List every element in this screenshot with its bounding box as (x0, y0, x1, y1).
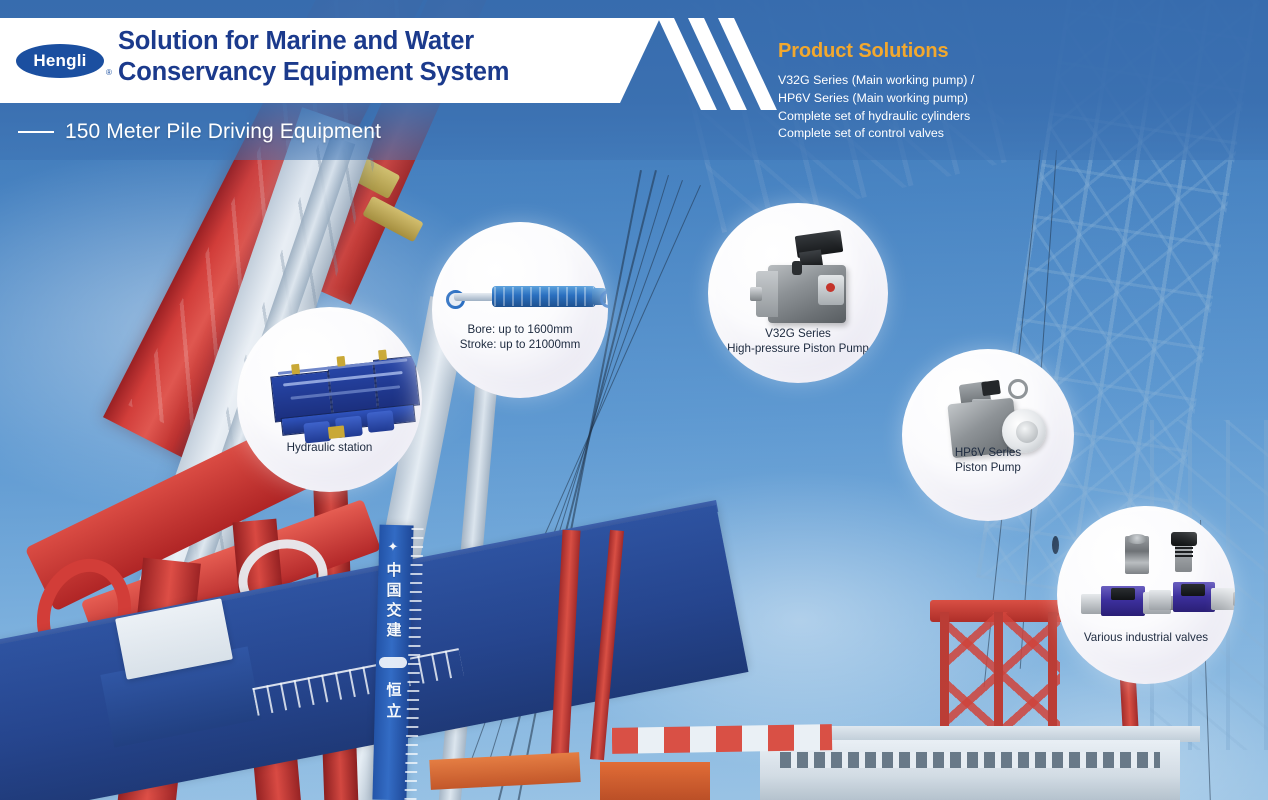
product-solutions-heading: Product Solutions (778, 40, 1118, 63)
caption-line-1: Hydraulic station (237, 440, 422, 455)
v32g-pump-image (756, 231, 860, 341)
cylinder-base-eye (600, 290, 608, 308)
product-solutions-item-2: Complete set of hydraulic cylinders (778, 108, 1118, 126)
caption-line-2: Piston Pump (902, 460, 1074, 475)
pile-column-badge (379, 657, 407, 668)
valve-connector-right (1233, 592, 1235, 606)
hydraulic-station-image (266, 343, 422, 454)
caption-line-1: V32G Series (708, 326, 888, 341)
callout-caption-hp6v-pump: HP6V Series Piston Pump (902, 445, 1074, 475)
valve-cartridge-1-top (1127, 534, 1147, 544)
callout-hydraulic-station[interactable]: Hydraulic station (237, 307, 422, 492)
caption-line-1: HP6V Series (902, 445, 1074, 460)
hs-fitting-3 (378, 350, 387, 361)
callout-caption-industrial-valves: Various industrial valves (1057, 630, 1235, 645)
pile-column-text-top: 中国交建 (381, 560, 407, 640)
v32g-adjuster-knob (792, 261, 802, 275)
hs-pump-3 (367, 410, 395, 433)
callout-caption-hydraulic-station: Hydraulic station (237, 440, 422, 455)
caption-line-2: Stroke: up to 21000mm (432, 337, 608, 352)
registered-trademark-icon: ® (106, 68, 112, 77)
valve-cartridge-2-cap (1171, 532, 1197, 546)
valve-center-left (1111, 588, 1135, 600)
valve-solenoid-right-a (1149, 590, 1171, 610)
poster-canvas: ✦ 中国交建 恒立 Hengli ® Solution for Marine a… (0, 0, 1268, 800)
hs-fitting-2 (337, 356, 346, 367)
callout-caption-hydraulic-cylinder: Bore: up to 1600mm Stroke: up to 21000mm (432, 322, 608, 352)
caption-line-2: High-pressure Piston Pump (708, 341, 888, 356)
caption-line-1: Bore: up to 1600mm (432, 322, 608, 337)
red-white-striped-boom (612, 724, 832, 754)
pile-column-text-bottom: 恒立 (381, 680, 407, 722)
callout-industrial-valves[interactable]: Various industrial valves (1057, 506, 1235, 684)
page-title: Solution for Marine and Water Conservanc… (118, 26, 618, 88)
v32g-port-seal (826, 283, 835, 292)
bubble-gloss-2 (432, 222, 608, 398)
hp6v-drive-shaft (1034, 427, 1048, 437)
hs-fitting-1 (291, 364, 300, 375)
product-solutions-item-1: HP6V Series (Main working pump) (778, 90, 1118, 108)
valve-solenoid-right-b (1211, 588, 1235, 610)
product-solutions-item-3: Complete set of control valves (778, 125, 1118, 143)
orange-crane-1 (600, 762, 710, 800)
valve-solenoid-left-a (1081, 594, 1103, 614)
caption-line-1: Various industrial valves (1057, 630, 1235, 645)
hp6v-solenoid (981, 380, 1001, 396)
hengli-logo[interactable]: Hengli ® (16, 44, 112, 82)
page-title-line-2: Conservancy Equipment System (118, 57, 618, 88)
vessel-windows (780, 752, 1160, 768)
product-solutions-block: Product Solutions V32G Series (Main work… (778, 40, 1118, 143)
callout-hydraulic-cylinder[interactable]: Bore: up to 1600mm Stroke: up to 21000mm (432, 222, 608, 398)
valve-cartridge-2-spring (1175, 545, 1193, 557)
logo-text: Hengli (33, 51, 86, 71)
subtitle-text: 150 Meter Pile Driving Equipment (65, 120, 381, 144)
product-solutions-item-0: V32G Series (Main working pump) / (778, 72, 1118, 90)
hydraulic-cylinder-image (454, 284, 604, 310)
callout-hp6v-pump[interactable]: HP6V Series Piston Pump (902, 349, 1074, 521)
hs-valve-block (328, 425, 345, 439)
page-subtitle: 150 Meter Pile Driving Equipment (18, 120, 381, 144)
cylinder-rod (454, 293, 494, 301)
v32g-drive-shaft (750, 287, 762, 301)
pile-column-logo-icon: ✦ (381, 538, 405, 556)
logo-ellipse: Hengli (16, 44, 104, 78)
cylinder-ribs (494, 287, 594, 306)
page-title-line-1: Solution for Marine and Water (118, 26, 618, 57)
cable-pendant (1052, 536, 1059, 554)
callout-caption-v32g-pump: V32G Series High-pressure Piston Pump (708, 326, 888, 356)
subtitle-dash-icon (18, 131, 54, 133)
banner-diagonal-stripes (648, 18, 778, 110)
valve-center-right (1181, 584, 1205, 596)
callout-v32g-pump[interactable]: V32G Series High-pressure Piston Pump (708, 203, 888, 383)
hp6v-lifting-eye (1008, 379, 1028, 399)
